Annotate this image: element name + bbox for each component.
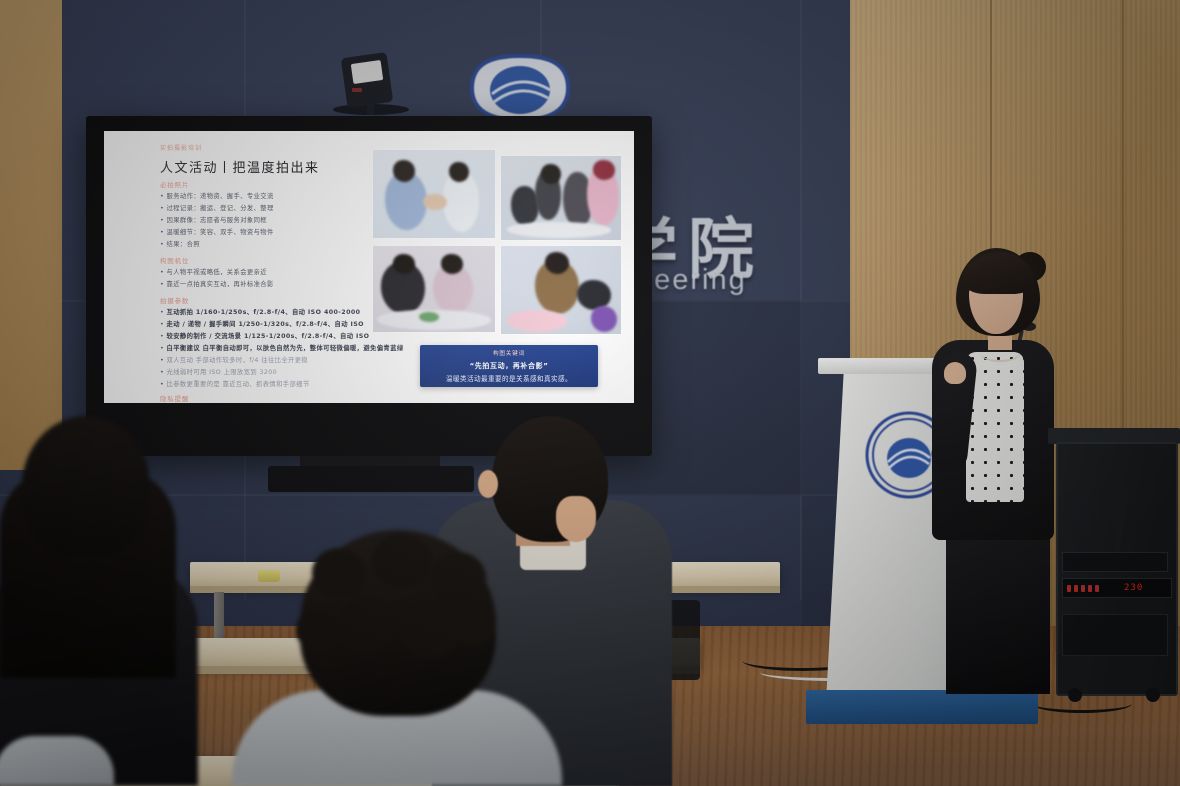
audience-center-ear: [478, 470, 498, 498]
presentation-room-photo: 学院 neering: [0, 0, 1180, 786]
slide-bullet: • 与人物平视或略低，关系会更亲近: [160, 267, 267, 276]
camera-status-led: [352, 88, 362, 92]
photo-collage-2x2: [372, 149, 620, 335]
audience-left-head: [22, 416, 150, 556]
slide-bullet: • 走动 / 递物 / 握手瞬间 1/250-1/320s、f/2.8-f/4、…: [160, 319, 364, 328]
hair-curl: [452, 600, 496, 646]
slide-bullet: • 温暖细节：笑容、双手、物资与物件: [160, 227, 274, 236]
collage-photo-1: [372, 149, 496, 239]
hair-curl: [312, 548, 366, 598]
audience-far-left-shoulder: [0, 736, 114, 786]
callout-line-1: “先拍互动，再补合影”: [470, 361, 549, 371]
led-indicator: [1088, 585, 1092, 592]
presentation-slide: 实拍摄影培训 人文活动丨把温度拍出来 必拍照片 • 服务动作：递物资、握手、专业…: [104, 131, 634, 403]
slide-callout-box: 构图关键词 “先拍互动，再补合影” 温暖类活动最重要的是关系感和真实感。: [420, 345, 598, 387]
slide-kicker: 实拍摄影培训: [160, 143, 202, 152]
led-indicator: [1067, 585, 1071, 592]
wall-mounted-display: 实拍摄影培训 人文活动丨把温度拍出来 必拍照片 • 服务动作：递物资、握手、专业…: [86, 116, 652, 456]
slide-bullet: • 光线弱时可用 ISO 上限放宽到 3200: [160, 367, 277, 376]
slide-bullet: • 因果群像：志愿者与服务对象同框: [160, 215, 267, 224]
rack-led-readout: 230: [1062, 578, 1172, 598]
led-indicator: [1095, 585, 1099, 592]
slide-bullet: • 过程记录：搬运、登记、分发、整理: [160, 203, 274, 212]
display-stand-foot: [268, 466, 474, 492]
led-number: 230: [1124, 583, 1143, 593]
display-stand-neck: [300, 456, 440, 466]
collage-photo-4: [500, 245, 622, 335]
slide-section-heading: 拍摄参数: [160, 295, 189, 305]
hair-curl: [336, 598, 394, 652]
presenter-hand: [944, 362, 966, 384]
hair-curl: [372, 534, 432, 588]
slide-section-heading: 必拍照片: [160, 179, 189, 189]
callout-line-2: 温暖类活动最重要的是关系感和真实感。: [446, 373, 572, 383]
collage-photo-2: [500, 155, 622, 241]
led-indicator: [1074, 585, 1078, 592]
university-emblem-icon: [460, 50, 580, 126]
cup-on-desk: [258, 570, 280, 582]
led-indicator: [1081, 585, 1085, 592]
rack-caster: [1068, 688, 1082, 702]
lectern-base: [806, 690, 1038, 724]
slide-bullet: • 结果：合照: [160, 239, 200, 248]
slide-bullet: • 双人互动 手部动作较多时，f/4 往往比全开更稳: [160, 355, 308, 364]
rack-caster: [1146, 688, 1160, 702]
slide-bullet: • 白平衡建议 白平衡自动即可，以肤色自然为先，整体可轻微偏暖，避免偏青蓝绿: [160, 343, 404, 352]
power-cable: [1032, 694, 1132, 713]
slide-bullet: • 服务动作：递物资、握手、专业交流: [160, 191, 274, 200]
callout-heading: 构图关键词: [493, 349, 525, 357]
rack-unit: [1062, 552, 1168, 572]
slide-bullet: • 互动抓拍 1/160-1/250s、f/2.8-f/4、自动 ISO 400…: [160, 307, 360, 316]
camera-lens: [351, 60, 383, 84]
slide-bullet: • 较安静的制作 / 交流场景 1/125-1/200s、f/2.8-f/4、自…: [160, 331, 369, 340]
slide-section-heading: 构图机位: [160, 255, 189, 265]
slide-section-heading: 隐私提醒: [160, 393, 189, 403]
slide-bullet: • 靠近一点拍真实互动，再补标准合影: [160, 279, 274, 288]
hair-curl: [430, 552, 486, 604]
slide-bullet: • 比参数更重要的是 靠近互动、抓表情和手部细节: [160, 379, 310, 388]
wall-text-english: neering: [636, 264, 747, 297]
rack-unit: [1062, 614, 1168, 656]
presenter-skirt: [946, 524, 1050, 694]
audience-center-hand: [556, 496, 596, 542]
collage-photo-3: [372, 245, 496, 333]
slide-title: 人文活动丨把温度拍出来: [160, 157, 320, 176]
left-wood-wall: [0, 0, 62, 470]
hair-curl: [296, 608, 340, 652]
